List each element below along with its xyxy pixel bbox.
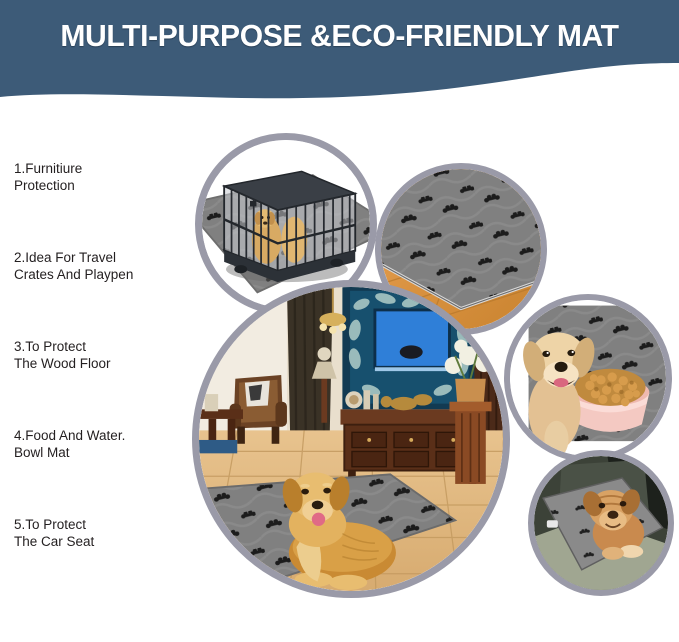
- golden-retriever-living-room-photo: [199, 287, 503, 591]
- dog-food-bowl-mat-photo: [510, 300, 666, 456]
- puppy-car-seat-mat-photo: [534, 456, 668, 590]
- image-collage: [0, 108, 679, 642]
- banner-wave-shape: [0, 0, 679, 110]
- bubble-living-room: [192, 280, 510, 598]
- bubble-car-seat: [528, 450, 674, 596]
- header-banner: MULTI-PURPOSE &ECO-FRIENDLY MAT: [0, 0, 679, 110]
- page-title: MULTI-PURPOSE &ECO-FRIENDLY MAT: [10, 18, 669, 54]
- bubble-food-bowl: [504, 294, 672, 462]
